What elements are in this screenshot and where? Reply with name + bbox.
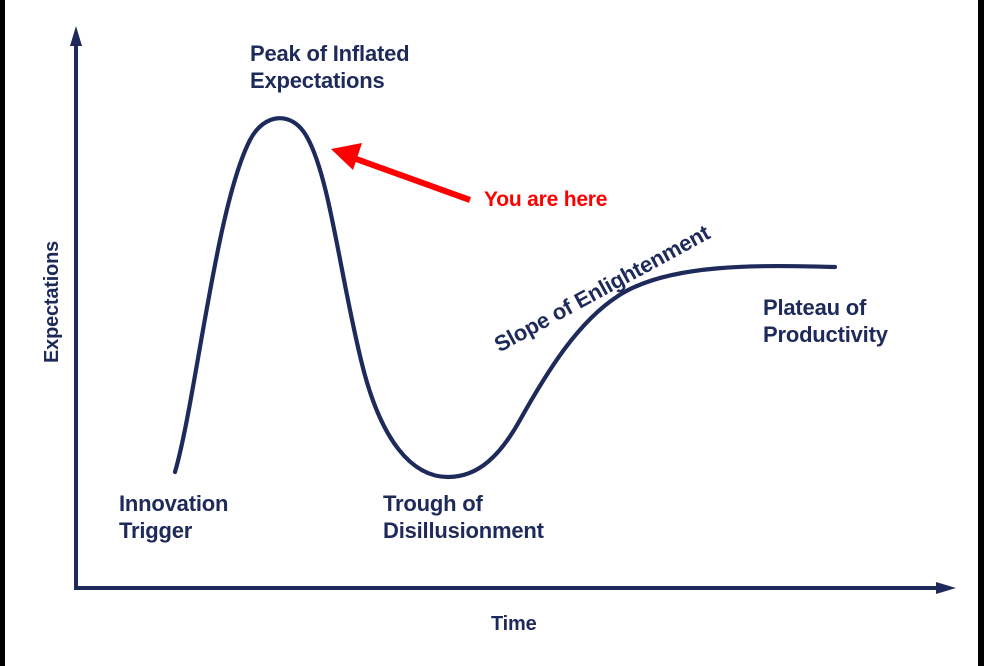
stage-label-peak-of-inflated-expectations: Peak of Inflated Expectations: [250, 41, 409, 95]
hype-cycle-figure: Peak of Inflated Expectations Innovation…: [0, 0, 1000, 666]
x-axis-label: Time: [491, 612, 537, 636]
you-are-here-arrow: [331, 143, 470, 200]
y-axis-label: Expectations: [40, 241, 64, 363]
stage-label-plateau-of-productivity: Plateau of Productivity: [763, 295, 888, 349]
stage-label-trough-of-disillusionment: Trough of Disillusionment: [383, 491, 544, 545]
x-axis: [74, 582, 956, 594]
you-are-here-annotation-text: You are here: [484, 187, 607, 213]
y-axis: [70, 26, 82, 588]
hype-curve: [175, 118, 835, 477]
stage-label-innovation-trigger: Innovation Trigger: [119, 491, 228, 545]
